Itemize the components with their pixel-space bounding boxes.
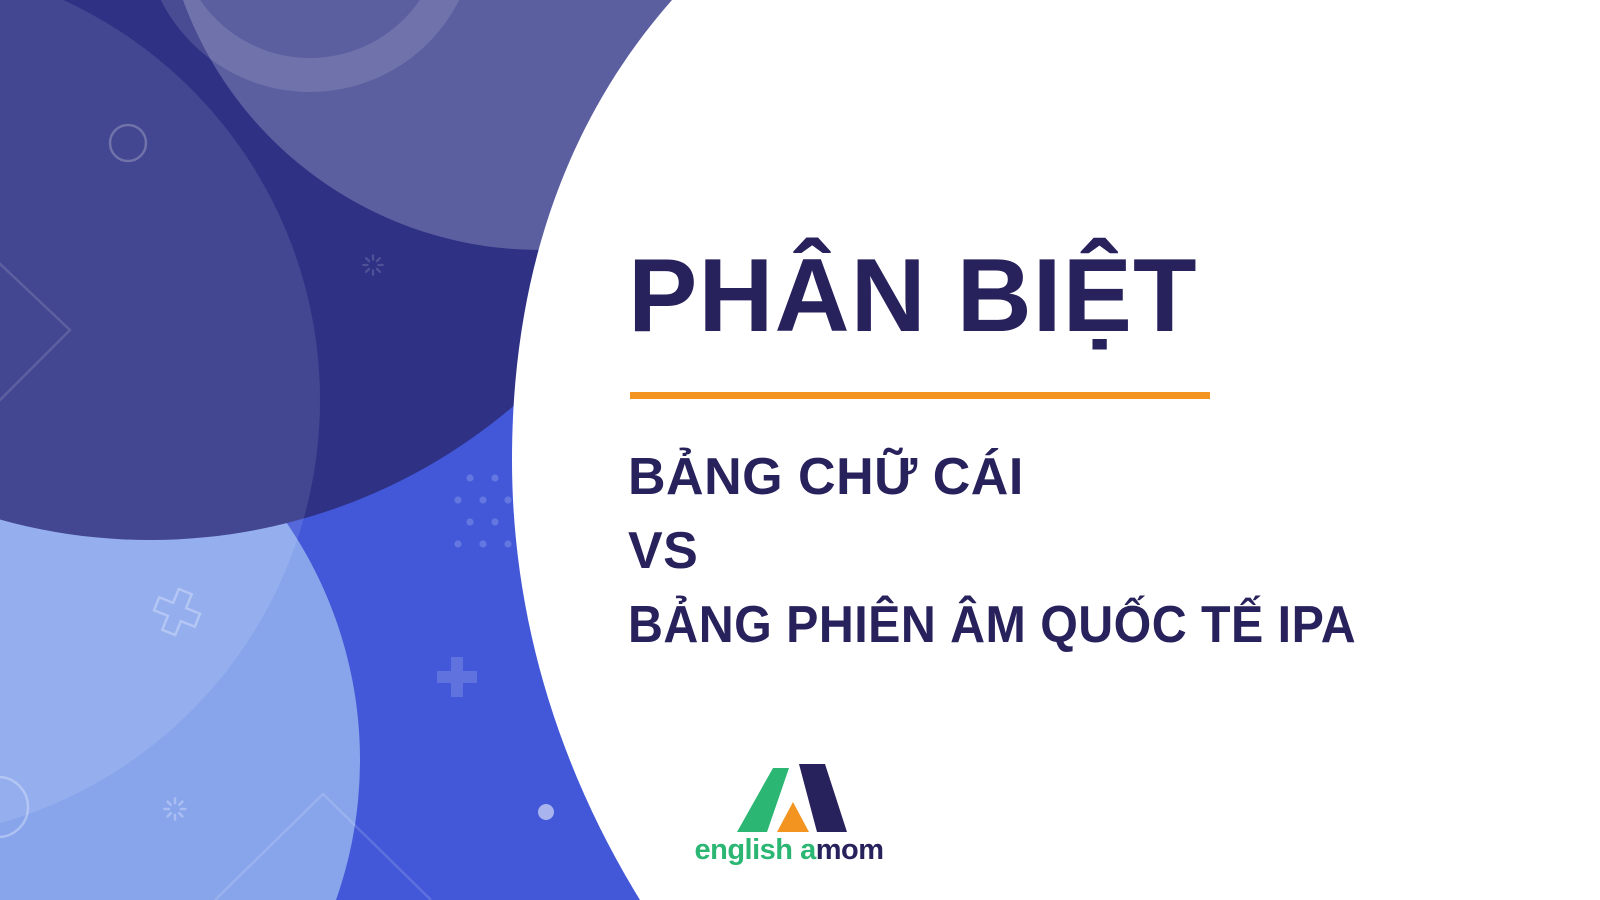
title-divider-rule	[630, 392, 1210, 399]
logo-green-stroke	[737, 768, 789, 832]
subtitle-line-1: BẢNG CHỮ CÁI	[628, 440, 1578, 514]
subtitle-line-vs: VS	[628, 514, 1578, 588]
subtitle-line-3: BẢNG PHIÊN ÂM QUỐC TẾ IPA	[628, 588, 1512, 662]
solid-dot	[538, 804, 554, 820]
page-title: PHÂN BIỆT	[628, 244, 1197, 348]
logo-navy-stroke	[799, 764, 847, 832]
subtitle-block: BẢNG CHỮ CÁI VS BẢNG PHIÊN ÂM QUỐC TẾ IP…	[628, 440, 1578, 662]
brand-logo: english amom	[694, 762, 884, 870]
triangle-a-logo-icon	[727, 762, 851, 834]
logo-orange-triangle	[777, 802, 809, 832]
slide-canvas: PHÂN BIỆT BẢNG CHỮ CÁI VS BẢNG PHIÊN ÂM …	[0, 0, 1600, 900]
logo-wordmark: english amom	[694, 836, 884, 865]
logo-word-green: english a	[695, 834, 816, 866]
logo-word-navy: mom	[816, 834, 884, 866]
